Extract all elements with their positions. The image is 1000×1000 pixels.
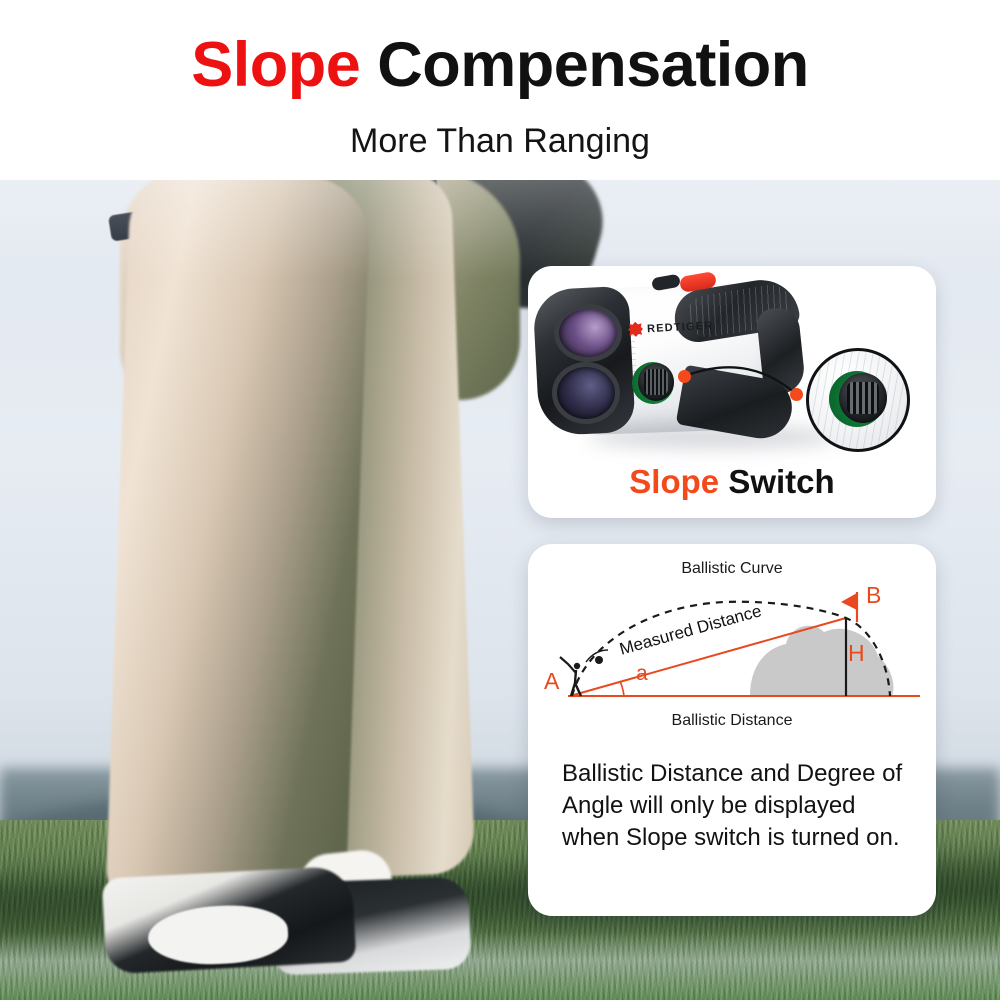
flag-icon xyxy=(841,592,857,622)
brand-logo-text: REDTIGER xyxy=(647,319,714,334)
label-point-a: A xyxy=(544,668,559,695)
label-ballistic-distance: Ballistic Distance xyxy=(528,712,936,730)
page-title: Slope Compensation xyxy=(0,34,1000,97)
header-banner: Slope Compensation More Than Ranging xyxy=(0,0,1000,180)
hill-shape xyxy=(750,626,893,696)
slope-switch-ridges xyxy=(644,369,668,395)
promo-page: Slope Compensation More Than Ranging xyxy=(0,0,1000,1000)
magnifier-dial-ridges xyxy=(847,382,879,414)
label-angle: a xyxy=(636,662,648,686)
page-title-accent: Slope xyxy=(191,30,360,100)
objective-lens xyxy=(554,304,622,362)
page-subtitle: More Than Ranging xyxy=(0,124,1000,158)
ballistic-diagram-card: Ballistic Curve Measured Distance Ballis… xyxy=(528,544,936,916)
magnified-slope-switch xyxy=(806,348,910,452)
slope-switch-card: REDTIGER Slope Switch xyxy=(528,266,936,518)
callout-dot-origin xyxy=(678,370,691,383)
label-point-b: B xyxy=(866,582,881,609)
redtiger-emblem-icon xyxy=(628,321,644,337)
eyepiece-lens xyxy=(552,362,620,424)
slope-switch-caption: Slope Switch xyxy=(528,465,936,498)
label-height: H xyxy=(848,640,865,667)
golf-ball-icon xyxy=(595,656,603,664)
label-ballistic-curve: Ballistic Curve xyxy=(528,560,936,578)
callout-dot-target xyxy=(790,388,803,401)
ballistic-diagram: Ballistic Curve Measured Distance Ballis… xyxy=(528,544,936,754)
golfer-stick-icon xyxy=(560,657,581,696)
diagram-description: Ballistic Distance and Degree of Angle w… xyxy=(562,758,912,854)
slope-switch-caption-accent: Slope xyxy=(629,463,719,500)
angle-arc xyxy=(620,681,624,696)
page-title-rest: Compensation xyxy=(360,30,809,100)
rangefinder-illustration: REDTIGER xyxy=(528,266,936,456)
slope-switch-caption-rest: Switch xyxy=(719,463,835,500)
